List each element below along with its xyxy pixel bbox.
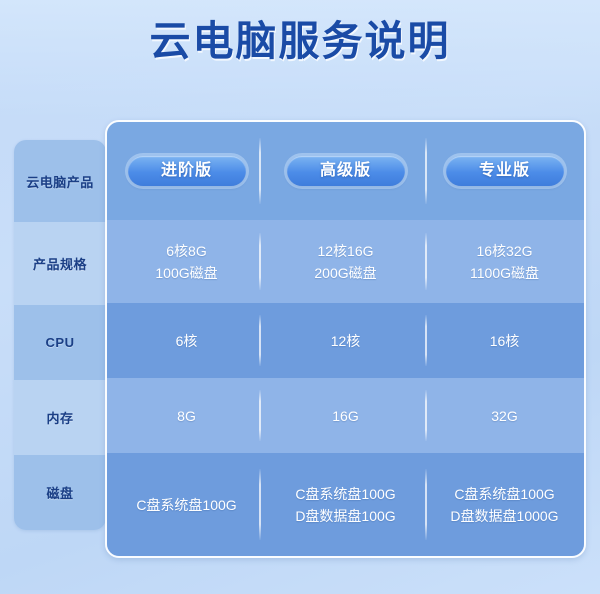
- spec-cell-premium: 12核16G 200G磁盘: [266, 220, 425, 303]
- plan-comparison-panel: 进阶版 高级版 专业版 6核8G 100G磁盘 12核16G 200G磁盘 16…: [105, 120, 586, 558]
- spec-advanced-line2: 100G磁盘: [155, 262, 217, 284]
- disk-cell-advanced: C盘系统盘100G: [107, 453, 266, 556]
- cpu-professional-value: 16核: [490, 330, 520, 352]
- row-label-cpu: CPU: [14, 305, 106, 380]
- row-label-memory: 内存: [14, 380, 106, 455]
- row-label-product: 云电脑产品: [14, 140, 106, 222]
- plan-cell-professional: 专业版: [425, 122, 584, 220]
- disk-cell-premium: C盘系统盘100G D盘数据盘100G: [266, 453, 425, 556]
- disk-advanced-line1: C盘系统盘100G: [136, 494, 236, 516]
- page-title: 云电脑服务说明: [0, 14, 600, 68]
- memory-row: 8G 16G 32G: [107, 378, 584, 453]
- spec-professional-line2: 1100G磁盘: [470, 262, 539, 284]
- memory-advanced-value: 8G: [177, 405, 196, 427]
- plan-cell-premium: 高级版: [266, 122, 425, 220]
- page-root: 云电脑服务说明 云电脑产品 产品规格 CPU 内存 磁盘 进阶版 高级版 专业版: [0, 0, 600, 594]
- spec-professional-line1: 16核32G: [476, 240, 532, 262]
- spec-cell-advanced: 6核8G 100G磁盘: [107, 220, 266, 303]
- cpu-row: 6核 12核 16核: [107, 303, 584, 378]
- disk-row: C盘系统盘100G C盘系统盘100G D盘数据盘100G C盘系统盘100G …: [107, 453, 584, 556]
- spec-premium-line2: 200G磁盘: [314, 262, 376, 284]
- cpu-cell-premium: 12核: [266, 303, 425, 378]
- row-label-disk: 磁盘: [14, 455, 106, 530]
- memory-cell-premium: 16G: [266, 378, 425, 453]
- cpu-advanced-value: 6核: [176, 330, 198, 352]
- memory-professional-value: 32G: [491, 405, 517, 427]
- spec-cell-professional: 16核32G 1100G磁盘: [425, 220, 584, 303]
- disk-cell-professional: C盘系统盘100G D盘数据盘1000G: [425, 453, 584, 556]
- plan-cell-advanced: 进阶版: [107, 122, 266, 220]
- spec-advanced-line1: 6核8G: [166, 240, 206, 262]
- spec-premium-line1: 12核16G: [317, 240, 373, 262]
- plan-badge-professional[interactable]: 专业版: [446, 156, 564, 186]
- cpu-cell-professional: 16核: [425, 303, 584, 378]
- disk-premium-line2: D盘数据盘100G: [295, 505, 395, 527]
- plan-badge-premium[interactable]: 高级版: [287, 156, 405, 186]
- row-label-spec: 产品规格: [14, 222, 106, 305]
- memory-cell-professional: 32G: [425, 378, 584, 453]
- disk-premium-line1: C盘系统盘100G: [295, 483, 395, 505]
- memory-cell-advanced: 8G: [107, 378, 266, 453]
- plan-header-row: 进阶版 高级版 专业版: [107, 122, 584, 220]
- disk-professional-line2: D盘数据盘1000G: [450, 505, 558, 527]
- plan-badge-advanced[interactable]: 进阶版: [128, 156, 246, 186]
- cpu-premium-value: 12核: [331, 330, 361, 352]
- spec-row: 6核8G 100G磁盘 12核16G 200G磁盘 16核32G 1100G磁盘: [107, 220, 584, 303]
- row-label-column: 云电脑产品 产品规格 CPU 内存 磁盘: [14, 140, 106, 530]
- cpu-cell-advanced: 6核: [107, 303, 266, 378]
- disk-professional-line1: C盘系统盘100G: [454, 483, 554, 505]
- memory-premium-value: 16G: [332, 405, 358, 427]
